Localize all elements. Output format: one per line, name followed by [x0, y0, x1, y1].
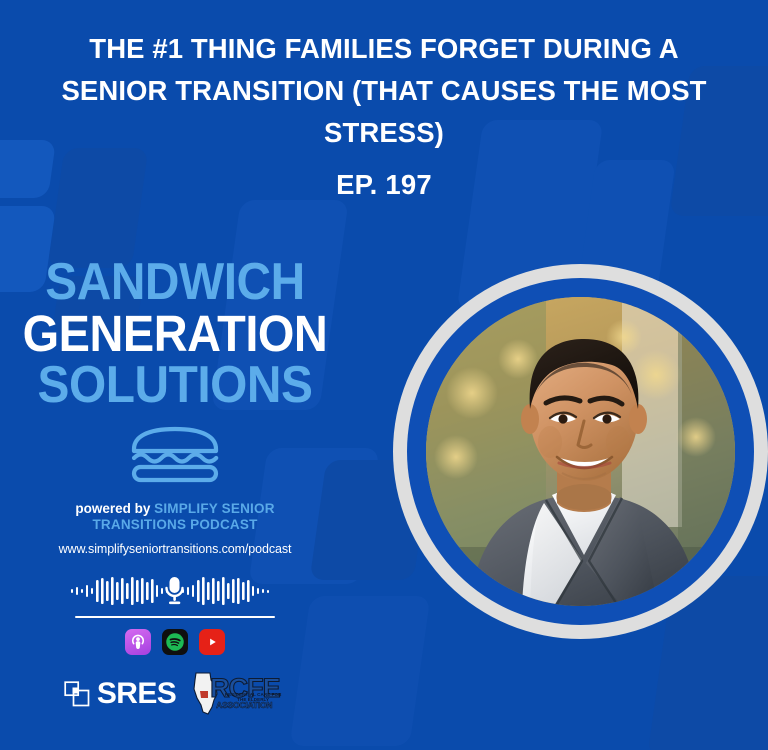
powered-by-block: powered by SIMPLIFY SENIOR TRANSITIONS P…	[0, 501, 350, 534]
sres-squares-icon	[64, 681, 90, 707]
title-line-2: SENIOR TRANSITION (THAT CAUSES THE MOST	[26, 70, 742, 112]
episode-number: EP. 197	[26, 164, 742, 206]
audio-waveform	[69, 576, 281, 606]
episode-title-block: THE #1 THING FAMILIES FORGET DURING A SE…	[26, 28, 742, 206]
brand-word-sandwich: SANDWICH	[14, 258, 336, 308]
powered-by-brand-line1: SIMPLIFY SENIOR	[154, 501, 275, 516]
spotify-icon[interactable]	[162, 629, 188, 655]
certification-badges: SRES RCFE RESIDENTIAL CARE FOR THE ELDER…	[0, 671, 350, 717]
audio-block	[0, 576, 350, 656]
host-portrait	[393, 264, 768, 654]
waveform-underline	[75, 616, 275, 619]
brand-block: SANDWICH GENERATION SOLUTIONS powered by…	[0, 258, 350, 717]
brand-word-generation: GENERATION	[14, 310, 336, 359]
brand-word-solutions: SOLUTIONS	[14, 361, 336, 411]
title-line-3: STRESS)	[26, 112, 742, 154]
podcast-url[interactable]: www.simplifyseniortransitions.com/podcas…	[0, 542, 350, 556]
powered-by-brand-line2: TRANSITIONS PODCAST	[0, 517, 350, 533]
portrait-photo	[426, 297, 735, 606]
title-line-1: THE #1 THING FAMILIES FORGET DURING A	[26, 28, 742, 70]
sres-label: SRES	[97, 677, 176, 711]
powered-by-prefix: powered by	[75, 501, 150, 516]
microphone-icon	[167, 577, 183, 604]
rcfe-association: ASSOCIATION	[216, 700, 272, 710]
youtube-icon[interactable]	[199, 629, 225, 655]
podcast-cover-art: THE #1 THING FAMILIES FORGET DURING A SE…	[0, 0, 768, 750]
sres-badge: SRES	[64, 677, 176, 711]
platform-icons	[0, 629, 350, 655]
sandwich-icon	[127, 425, 223, 483]
apple-podcasts-icon[interactable]	[125, 629, 151, 655]
rcfe-badge: RCFE RESIDENTIAL CARE FOR THE ELDERLY AS…	[190, 671, 286, 717]
